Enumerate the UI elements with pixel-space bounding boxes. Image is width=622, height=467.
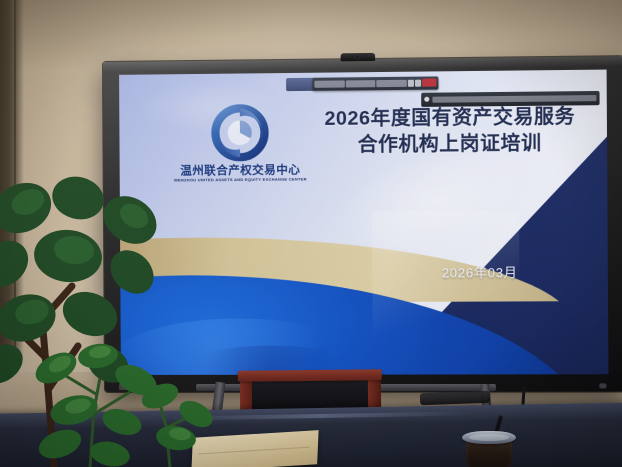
presentation-watermark-badge [421, 91, 599, 107]
slide-title-line2: 合作机构上岗证培训 [303, 130, 597, 159]
presentation-tab[interactable] [286, 77, 315, 91]
conference-camera-icon [341, 53, 376, 61]
display-brand-label [119, 384, 145, 390]
logo-name-cn: 温州联合产权交易中心 [168, 164, 313, 177]
toolbar-segment[interactable] [345, 80, 375, 87]
plastic-drink-cup [462, 431, 516, 467]
paper-fold-line [198, 447, 310, 455]
presentation-title-slide: 温州联合产权交易中心 WENZHOU UNITED ASSETS AND EQU… [119, 70, 608, 375]
toolbar-icon[interactable] [415, 79, 421, 86]
slide-title: 2026年度国有资产交易服务 合作机构上岗证培训 [303, 103, 597, 158]
toolbar-segment[interactable] [314, 80, 344, 87]
wall-trim-shadow [14, 0, 24, 360]
ir-receiver-icon [599, 383, 606, 388]
meeting-room-scene: 温州联合产权交易中心 WENZHOU UNITED ASSETS AND EQU… [0, 0, 622, 467]
shelf-equipment [420, 391, 490, 405]
cup-lid-highlight [469, 434, 509, 441]
nameplate-top-rail [238, 369, 382, 382]
toolbar-segment[interactable] [377, 79, 407, 86]
display-screen[interactable]: 温州联合产权交易中心 WENZHOU UNITED ASSETS AND EQU… [119, 70, 608, 375]
badge-text-bar [432, 95, 596, 102]
camera-lens-icon [355, 55, 360, 59]
cup-lid [462, 431, 516, 444]
record-button[interactable] [422, 79, 436, 86]
slide-title-line1: 2026年度国有资产交易服务 [324, 105, 575, 130]
toolbar-icon[interactable] [408, 79, 414, 86]
flat-panel-display: 温州联合产权交易中心 WENZHOU UNITED ASSETS AND EQU… [103, 56, 622, 392]
slide-date: 2026年03月 [382, 262, 579, 282]
organization-logo: 温州联合产权交易中心 WENZHOU UNITED ASSETS AND EQU… [167, 103, 313, 183]
badge-dot-icon [424, 97, 429, 102]
swirl-logo-icon [211, 103, 270, 162]
presentation-floating-toolbar[interactable] [312, 76, 438, 91]
